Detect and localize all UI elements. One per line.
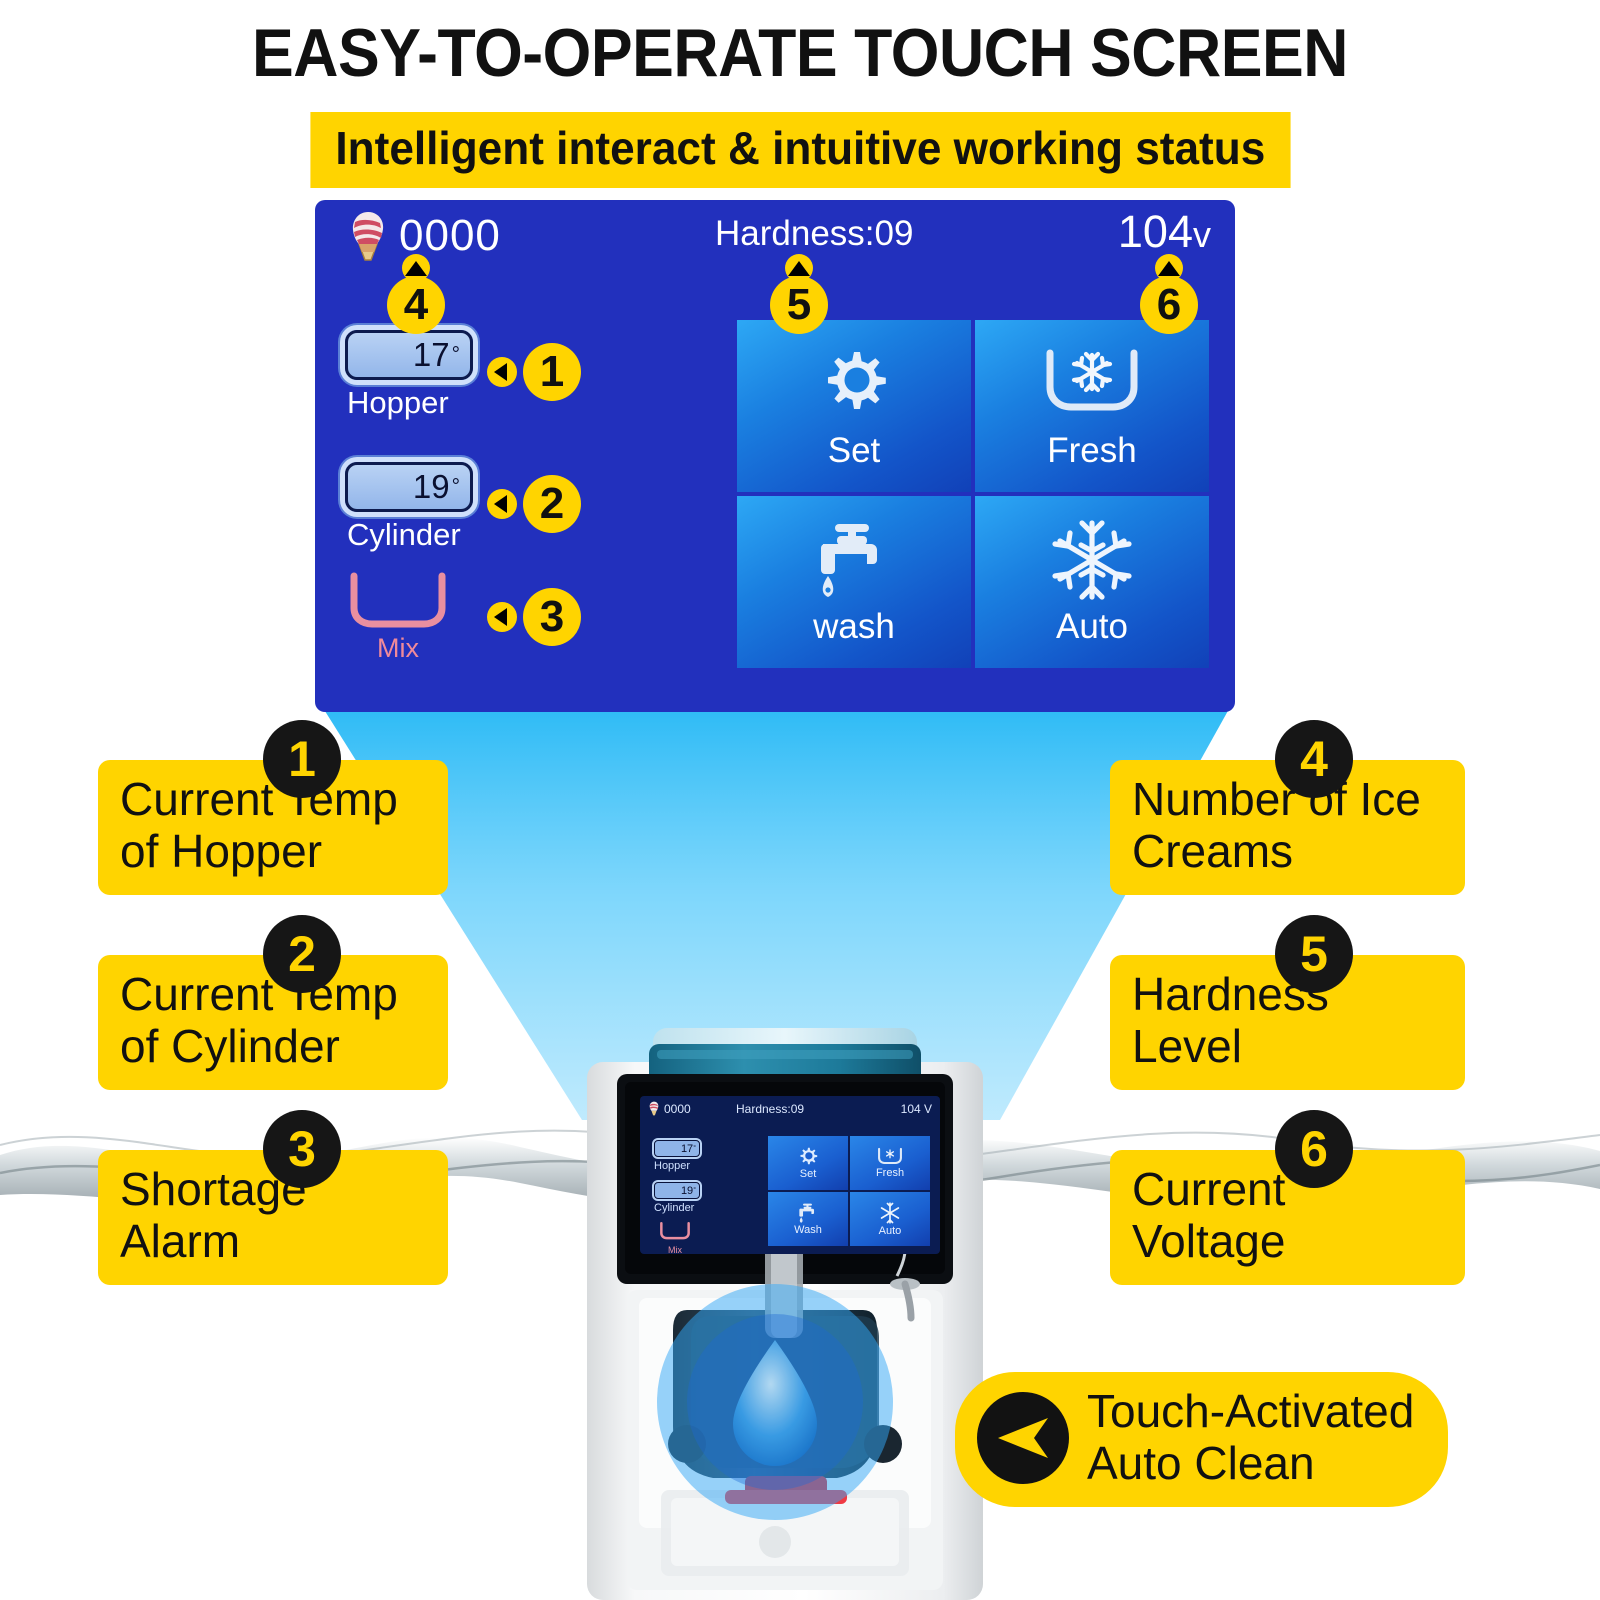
hardness-readout: Hardness:09 <box>715 214 913 254</box>
ice-cream-cone-icon <box>347 210 389 262</box>
mini-mix-group: Mix <box>658 1222 692 1254</box>
auto-clean-text: Touch-Activated Auto Clean <box>1087 1386 1414 1489</box>
tile-set[interactable]: Set <box>737 320 971 492</box>
mini-tile-auto-label: Auto <box>879 1225 902 1237</box>
subtitle-banner: Intelligent interact & intuitive working… <box>310 112 1290 188</box>
mini-ice-cream-count: 0000 <box>664 1102 691 1116</box>
callout-1-number: 1 <box>263 720 341 798</box>
mini-tile-wash[interactable]: Wash <box>768 1192 848 1246</box>
cylinder-temp-box[interactable]: 19° <box>345 462 473 512</box>
marker-4: 4 <box>387 254 445 334</box>
mini-status-row: 0000 Hardness:09 104 V <box>640 1101 940 1123</box>
tile-auto-label: Auto <box>1056 607 1128 647</box>
mini-hopper-label: Hopper <box>654 1160 700 1172</box>
tile-fresh-label: Fresh <box>1047 431 1136 471</box>
marker-2-number: 2 <box>523 475 581 533</box>
hopper-temp-group: 17° Hopper <box>345 330 473 421</box>
trough-snowflake-icon <box>1042 341 1142 427</box>
hopper-label: Hopper <box>345 385 473 421</box>
marker-3-number: 3 <box>523 588 581 646</box>
faucet-drip-icon <box>796 1202 820 1224</box>
auto-clean-callout: Touch-Activated Auto Clean <box>955 1372 1448 1507</box>
mini-tile-set-label: Set <box>800 1168 817 1180</box>
mini-tile-auto[interactable]: Auto <box>850 1192 930 1246</box>
mix-trough-icon <box>658 1222 692 1240</box>
mini-cylinder-group: 19° Cylinder <box>654 1182 700 1214</box>
mini-mix-label: Mix <box>658 1245 692 1254</box>
callout-6: 6 Current Voltage <box>1110 1150 1465 1285</box>
ice-cream-count-value: 0000 <box>399 214 501 258</box>
mini-hopper-group: 17° Hopper <box>654 1140 700 1172</box>
snowflake-icon <box>1049 517 1135 603</box>
marker-1-number: 1 <box>523 343 581 401</box>
marker-1: 1 <box>487 343 581 401</box>
subtitle-banner-wrap: Intelligent interact & intuitive working… <box>0 112 1600 188</box>
marker-5: 5 <box>770 254 828 334</box>
tile-auto[interactable]: Auto <box>975 496 1209 668</box>
mix-trough-icon <box>348 572 448 630</box>
tile-wash-label: wash <box>813 607 895 647</box>
ice-cream-cone-icon <box>648 1101 660 1116</box>
callout-4: 4 Number of Ice Creams <box>1110 760 1465 895</box>
touch-screen-panel[interactable]: 0000 Hardness:09 104v 4 5 6 17° Hopper 1… <box>315 200 1235 712</box>
tile-fresh[interactable]: Fresh <box>975 320 1209 492</box>
mini-voltage: 104 V <box>901 1102 932 1116</box>
marker-3: 3 <box>487 588 581 646</box>
mini-hopper-value: 17 <box>681 1143 693 1155</box>
left-arrow-icon <box>487 489 517 519</box>
degree-icon: ° <box>452 343 460 366</box>
left-arrow-icon <box>977 1392 1069 1484</box>
trough-snowflake-icon <box>877 1147 903 1167</box>
cylinder-label: Cylinder <box>345 517 473 553</box>
mini-button-grid: Set Fresh Wash <box>768 1136 930 1246</box>
marker-2: 2 <box>487 475 581 533</box>
callout-4-number: 4 <box>1275 720 1353 798</box>
callout-6-number: 6 <box>1275 1110 1353 1188</box>
marker-5-number: 5 <box>770 276 828 334</box>
marker-6-number: 6 <box>1140 276 1198 334</box>
snowflake-icon <box>878 1201 902 1225</box>
faucet-drip-icon <box>809 517 899 603</box>
mini-tile-fresh[interactable]: Fresh <box>850 1136 930 1190</box>
cylinder-temp-group: 19° Cylinder <box>345 462 473 553</box>
mini-tile-wash-label: Wash <box>794 1224 822 1236</box>
mini-tile-set[interactable]: Set <box>768 1136 848 1190</box>
gear-icon <box>797 1146 819 1168</box>
left-arrow-icon <box>487 357 517 387</box>
mini-cylinder-label: Cylinder <box>654 1202 700 1214</box>
mini-cylinder-value: 19 <box>681 1185 693 1197</box>
voltage-readout: 104v <box>1118 206 1211 258</box>
gear-icon <box>816 341 892 427</box>
marker-4-number: 4 <box>387 276 445 334</box>
tile-set-label: Set <box>828 431 881 471</box>
callout-1: 1 Current Temp of Hopper <box>98 760 448 895</box>
callout-5: 5 Hardness Level <box>1110 955 1465 1090</box>
callout-2-number: 2 <box>263 915 341 993</box>
page-title: EASY-TO-OPERATE TOUCH SCREEN <box>64 14 1536 92</box>
cylinder-temp-value: 19 <box>413 468 450 506</box>
callout-3-number: 3 <box>263 1110 341 1188</box>
hopper-temp-box[interactable]: 17° <box>345 330 473 380</box>
tile-wash[interactable]: wash <box>737 496 971 668</box>
mini-cylinder-box[interactable]: 19° <box>654 1182 700 1199</box>
mini-hardness: Hardness:09 <box>736 1102 804 1116</box>
hopper-temp-value: 17 <box>413 336 450 374</box>
machine-mini-screen[interactable]: 0000 Hardness:09 104 V 17° Hopper 19° Cy… <box>640 1096 940 1254</box>
degree-icon: ° <box>452 475 460 498</box>
mix-label: Mix <box>348 633 448 664</box>
function-button-grid: Set <box>737 320 1209 668</box>
callout-3: 3 Shortage Alarm <box>98 1150 448 1285</box>
voltage-value: 104 <box>1118 206 1193 257</box>
callout-2: 2 Current Temp of Cylinder <box>98 955 448 1090</box>
mini-tile-fresh-label: Fresh <box>876 1167 904 1179</box>
voltage-unit: v <box>1193 214 1211 255</box>
mix-alarm-group: Mix <box>348 572 448 664</box>
marker-6: 6 <box>1140 254 1198 334</box>
callout-5-number: 5 <box>1275 915 1353 993</box>
mini-hopper-box[interactable]: 17° <box>654 1140 700 1157</box>
left-arrow-icon <box>487 602 517 632</box>
